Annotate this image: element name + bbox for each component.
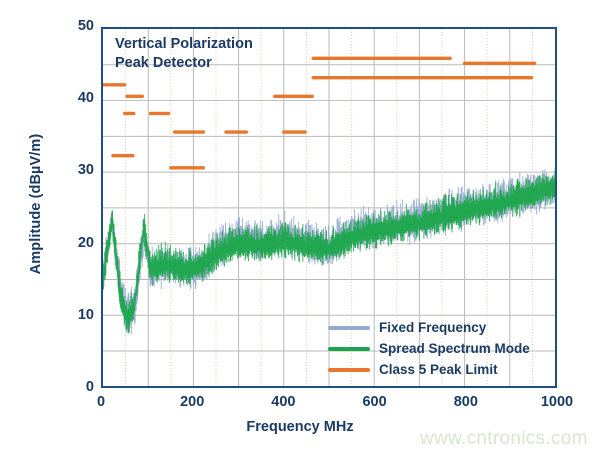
x-tick-label: 0 <box>71 394 131 410</box>
x-tick-label: 800 <box>436 394 496 410</box>
y-tick-label: 10 <box>52 307 94 323</box>
legend-swatch-icon <box>328 326 370 330</box>
y-tick-label: 20 <box>52 235 94 251</box>
x-tick-label: 400 <box>253 394 313 410</box>
plot-area: Vertical PolarizationPeak Detector Fixed… <box>101 27 557 388</box>
legend-swatch-icon <box>328 368 370 372</box>
y-axis-ticks: 01020304050 <box>50 0 94 457</box>
x-axis-ticks: 02004006008001000 <box>0 394 600 416</box>
legend-label: Class 5 Peak Limit <box>379 362 498 377</box>
limit-segments <box>103 58 535 167</box>
y-axis-label: Amplitude (dBµV/m) <box>28 104 44 304</box>
x-tick-label: 600 <box>345 394 405 410</box>
chart-root: 01020304050 02004006008001000 Amplitude … <box>0 0 600 457</box>
plot-title: Vertical PolarizationPeak Detector <box>115 35 253 73</box>
x-tick-label: 1000 <box>527 394 587 410</box>
legend-item: Spread Spectrum Mode <box>328 338 553 359</box>
x-tick-label: 200 <box>162 394 222 410</box>
y-tick-label: 40 <box>52 90 94 106</box>
legend-swatch-icon <box>328 347 370 351</box>
watermark: www.cntronics.com <box>420 428 588 450</box>
legend-label: Spread Spectrum Mode <box>379 341 530 356</box>
plot-title-line1: Vertical Polarization <box>115 36 253 52</box>
legend-item: Fixed Frequency <box>328 317 553 338</box>
trace-spread-spectrum-mode <box>103 169 555 333</box>
y-tick-label: 0 <box>52 379 94 395</box>
y-tick-label: 30 <box>52 162 94 178</box>
legend-item: Class 5 Peak Limit <box>328 359 553 380</box>
legend-label: Fixed Frequency <box>379 320 486 335</box>
plot-title-line2: Peak Detector <box>115 55 212 71</box>
chart-legend: Fixed FrequencySpread Spectrum ModeClass… <box>328 317 553 380</box>
y-tick-label: 50 <box>52 18 94 34</box>
